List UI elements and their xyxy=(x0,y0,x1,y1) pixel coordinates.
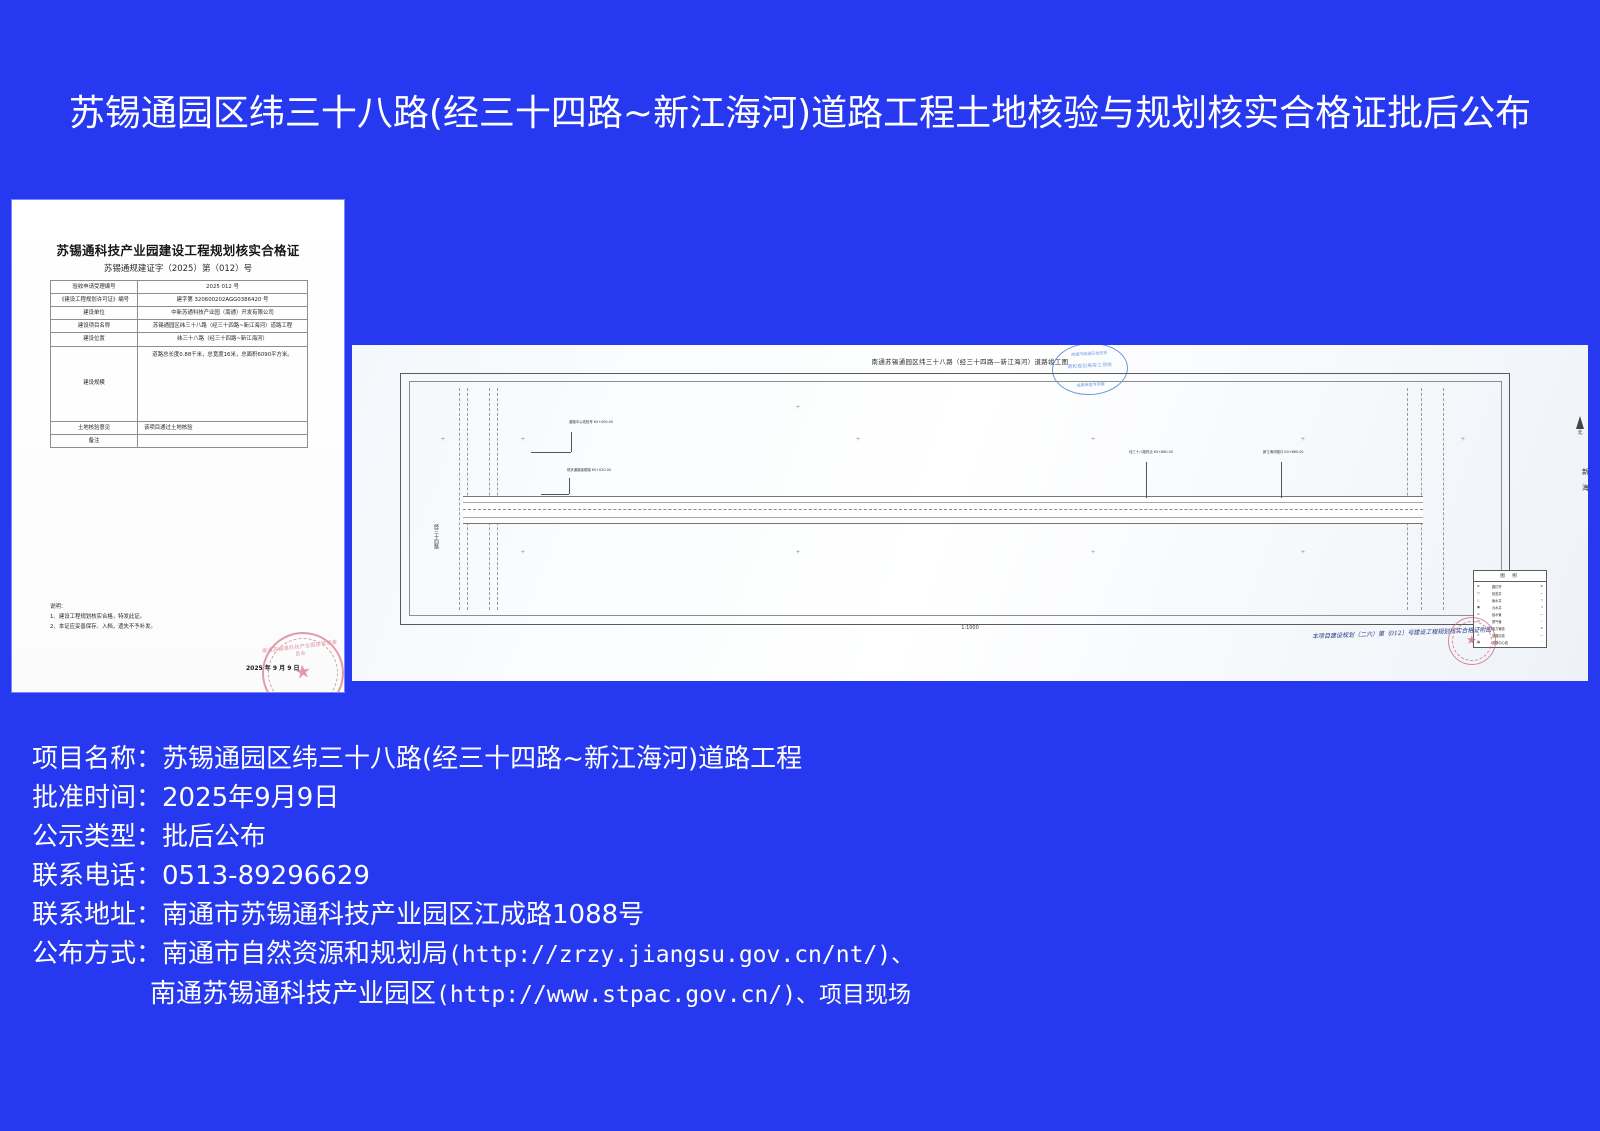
publicity-type-label: 公示类型： xyxy=(32,822,162,852)
row-label: 建设项目名称 xyxy=(51,320,138,333)
phone-label: 联系电话： xyxy=(32,861,162,891)
row-label: 备注 xyxy=(51,434,138,447)
survey-cross-tick: + xyxy=(1301,549,1305,556)
blue-seal-top-text: 南通市南通区自然资 xyxy=(1052,349,1126,359)
legend-code: — xyxy=(1529,612,1543,617)
legend-code: — xyxy=(1529,591,1543,596)
row-label: 建设位置 xyxy=(51,333,138,346)
approval-time-label: 批准时间： xyxy=(32,783,162,813)
row-value: 建字第 320600202AGG0386420 号 xyxy=(138,294,308,307)
page-title: 苏锡通园区纬三十八路(经三十四路~新江海河)道路工程土地核验与规划核实合格证批后… xyxy=(0,84,1600,136)
legend-item: ⊙ 给水管 — xyxy=(1477,612,1543,617)
red-round-seal-icon: 南通苏锡通科技产业园区管理委员会 ★ 行政审批专用章 xyxy=(257,627,344,692)
row-value: 中新苏通科技产业园（南通）开发有限公司 xyxy=(138,307,308,320)
info-line-approval-time: 批准时间：2025年9月9日 xyxy=(32,779,1572,818)
channel-url-1[interactable]: (http://zrzy.jiangsu.gov.cn/nt/)、 xyxy=(448,942,914,968)
annotation-label: 新江海河路口 K0+860.00 xyxy=(1263,450,1304,455)
certificate-paper: 苏锡通科技产业园建设工程规划核实合格证 苏锡通规建证字（2025）第（012）号… xyxy=(12,200,344,692)
certificate-scan-image[interactable]: 苏锡通科技产业园建设工程规划核实合格证 苏锡通规建证字（2025）第（012）号… xyxy=(12,200,344,692)
table-row: 土地核验意见 该项目通过土地核验 xyxy=(51,421,308,434)
legend-label: 污水井 xyxy=(1492,605,1526,610)
table-row: 建设位置 纬三十八路（经三十四路~新江海河） xyxy=(51,333,308,346)
table-row: 《建设工程规划许可证》编号 建字第 320600202AGG0386420 号 xyxy=(51,294,308,307)
row-label: 土地核验意见 xyxy=(51,421,138,434)
north-label: 北 xyxy=(1567,429,1588,436)
row-label: 建设单位 xyxy=(51,307,138,320)
legend-symbol: ⊙ xyxy=(1477,612,1489,617)
legend-label: 路灯杆 xyxy=(1492,584,1526,589)
legend-item: ⊕ 路灯杆 ⊗ xyxy=(1477,584,1543,589)
row-label: 验收申请受理编号 xyxy=(51,281,138,294)
survey-cross-tick: + xyxy=(1091,436,1095,443)
annotation-leader-line xyxy=(531,452,571,453)
river-label: 新江海河 xyxy=(1581,464,1588,496)
survey-cross-tick: + xyxy=(1091,549,1095,556)
row-value xyxy=(138,434,308,447)
row-label: 建设规模 xyxy=(51,346,138,421)
legend-item: ○ 检查井 — xyxy=(1477,591,1543,596)
annotation-leader-line xyxy=(1146,462,1147,498)
seal-star-icon: ★ xyxy=(1466,633,1478,646)
legend-label: 检查井 xyxy=(1492,591,1526,596)
survey-cross-tick: + xyxy=(441,436,445,443)
table-row: 验收申请受理编号 2025 012 号 xyxy=(51,281,308,294)
annotation-leader-line xyxy=(571,432,572,452)
annotation-text: 纬三十八路终点 K0+880.00 xyxy=(1129,450,1173,454)
road-edge-line xyxy=(463,517,1423,518)
survey-cross-tick: + xyxy=(856,436,860,443)
row-value: 纬三十八路（经三十四路~新江海河） xyxy=(138,333,308,346)
plan-drawing-scan-image[interactable]: 南通苏锡通园区纬三十八路（经三十四路—新江海河）道路竣工图 南通市南通区自然资 … xyxy=(352,345,1588,681)
legend-item: ▣ 污水井 ═ xyxy=(1477,605,1543,610)
blue-seal-middle-text: 源和规划局竣工测绘 xyxy=(1053,361,1127,371)
project-name-value: 苏锡通园区纬三十八路(经三十四路~新江海河)道路工程 xyxy=(162,744,802,774)
north-arrow-icon: 北 xyxy=(1567,416,1588,454)
certificate-notes: 说明： 1、建设工程规划核实合格，特发此证。 2、本证应妥善保存、入档，遗失不予… xyxy=(50,602,320,632)
legend-code: ═ xyxy=(1529,605,1543,610)
road-centerline-band xyxy=(463,496,1423,524)
annotation-text: 新江海河路口 K0+860.00 xyxy=(1263,450,1304,454)
row-value: 苏锡通园区纬三十八路（经三十四路~新江海河）道路工程 xyxy=(138,320,308,333)
annotation-text: 道路中心线桩号 K0+000.00 xyxy=(569,420,613,424)
legend-code: ⊗ xyxy=(1529,584,1543,589)
legend-label: 给水管 xyxy=(1492,612,1526,617)
annotation-text: 现状道路接顺端 K0+020.00 xyxy=(567,468,611,472)
legend-symbol: ⊕ xyxy=(1477,584,1489,589)
survey-cross-tick: + xyxy=(521,549,525,556)
certificate-table: 验收申请受理编号 2025 012 号 《建设工程规划许可证》编号 建字第 32… xyxy=(50,280,308,448)
certificate-number: 苏锡通规建证字（2025）第（012）号 xyxy=(12,262,344,274)
row-value: 2025 012 号 xyxy=(138,281,308,294)
survey-cross-tick: + xyxy=(796,549,800,556)
drawing-title: 南通苏锡通园区纬三十八路（经三十四路—新江海河）道路竣工图 xyxy=(352,357,1588,366)
row-label: 《建设工程规划许可证》编号 xyxy=(51,294,138,307)
info-line-publicity-type: 公示类型：批后公布 xyxy=(32,818,1572,857)
channel-org-1: 南通市自然资源和规划局 xyxy=(162,939,448,969)
legend-code: ┈ xyxy=(1529,640,1543,645)
note-item: 1、建设工程规划核实合格，特发此证。 xyxy=(50,612,320,622)
survey-cross-tick: + xyxy=(521,436,525,443)
phone-value: 0513-89296629 xyxy=(162,861,370,891)
info-line-channel: 公布方式：南通市自然资源和规划局(http://zrzy.jiangsu.gov… xyxy=(32,935,1572,975)
table-row: 建设规模 道路总长度0.88千米，总宽度16米，总面积6090平方米。 xyxy=(51,346,308,421)
legend-symbol: ○ xyxy=(1477,591,1489,596)
seal-star-icon: ★ xyxy=(292,662,314,684)
publicity-type-value: 批后公布 xyxy=(162,822,266,852)
legend-item: △ 雨水井 ┬ xyxy=(1477,598,1543,603)
info-line-channel-2: 南通苏锡通科技产业园区(http://www.stpac.gov.cn/)、项目… xyxy=(32,975,1572,1015)
annotation-label: 纬三十八路终点 K0+880.00 xyxy=(1129,450,1173,455)
legend-label: 道路中心线 xyxy=(1492,640,1526,645)
table-row: 建设单位 中新苏通科技产业园（南通）开发有限公司 xyxy=(51,307,308,320)
legend-label: 道路红线 xyxy=(1492,633,1526,638)
survey-cross-tick: + xyxy=(796,404,800,411)
road-edge-line xyxy=(463,502,1423,503)
annotation-label: 现状道路接顺端 K0+020.00 xyxy=(567,468,611,473)
legend-symbol: ▣ xyxy=(1477,605,1489,610)
channel-org-2: 南通苏锡通科技产业园区 xyxy=(150,979,436,1009)
notes-heading: 说明： xyxy=(50,602,320,612)
north-arrow-triangle xyxy=(1576,416,1584,429)
table-row: 备注 xyxy=(51,434,308,447)
annotation-label: 道路中心线桩号 K0+000.00 xyxy=(569,420,613,425)
channel-label: 公布方式： xyxy=(32,939,162,969)
table-row: 建设项目名称 苏锡通园区纬三十八路（经三十四路~新江海河）道路工程 xyxy=(51,320,308,333)
annotation-leader-line xyxy=(541,494,569,495)
legend-code: ┬ xyxy=(1529,598,1543,603)
project-info-block: 项目名称：苏锡通园区纬三十八路(经三十四路~新江海河)道路工程 批准时间：202… xyxy=(32,740,1572,1015)
row-value: 道路总长度0.88千米，总宽度16米，总面积6090平方米。 xyxy=(138,346,308,421)
address-label: 联系地址： xyxy=(32,900,162,930)
info-line-address: 联系地址：南通市苏锡通科技产业园区江成路1088号 xyxy=(32,896,1572,935)
certificate-title: 苏锡通科技产业园建设工程规划核实合格证 xyxy=(12,240,344,259)
road-center-dashed-line xyxy=(463,509,1423,510)
survey-cross-tick: + xyxy=(1301,436,1305,443)
grid-line-vertical xyxy=(1443,388,1444,610)
grid-line-vertical xyxy=(459,388,460,610)
approval-time-value: 2025年9月9日 xyxy=(162,783,339,813)
address-value: 南通市苏锡通科技产业园区江成路1088号 xyxy=(162,900,644,930)
cross-street-label: 经三十四路 xyxy=(433,524,440,549)
annotation-leader-line xyxy=(1281,462,1282,498)
legend-label: 雨水井 xyxy=(1492,598,1526,603)
annotation-leader-line xyxy=(569,478,570,494)
note-item: 2、本证应妥善保存、入档，遗失不予补发。 xyxy=(50,622,320,632)
legend-divider xyxy=(1474,581,1546,582)
drawing-paper: 南通苏锡通园区纬三十八路（经三十四路—新江海河）道路竣工图 南通市南通区自然资 … xyxy=(352,345,1588,681)
legend-symbol: △ xyxy=(1477,598,1489,603)
channel-url-2[interactable]: (http://www.stpac.gov.cn/)、项目现场 xyxy=(436,982,911,1008)
info-line-phone: 联系电话：0513-89296629 xyxy=(32,857,1572,896)
row-value: 该项目通过土地核验 xyxy=(138,421,308,434)
drawing-frame: + + + + + + + + + + + 道路中心线桩号 K0+000.00 … xyxy=(400,373,1510,625)
legend-title: 图 例 xyxy=(1474,573,1546,579)
info-line-project-name: 项目名称：苏锡通园区纬三十八路(经三十四路~新江海河)道路工程 xyxy=(32,740,1572,779)
survey-cross-tick: + xyxy=(1461,436,1465,443)
legend-code: — xyxy=(1529,633,1543,638)
project-name-label: 项目名称： xyxy=(32,744,162,774)
